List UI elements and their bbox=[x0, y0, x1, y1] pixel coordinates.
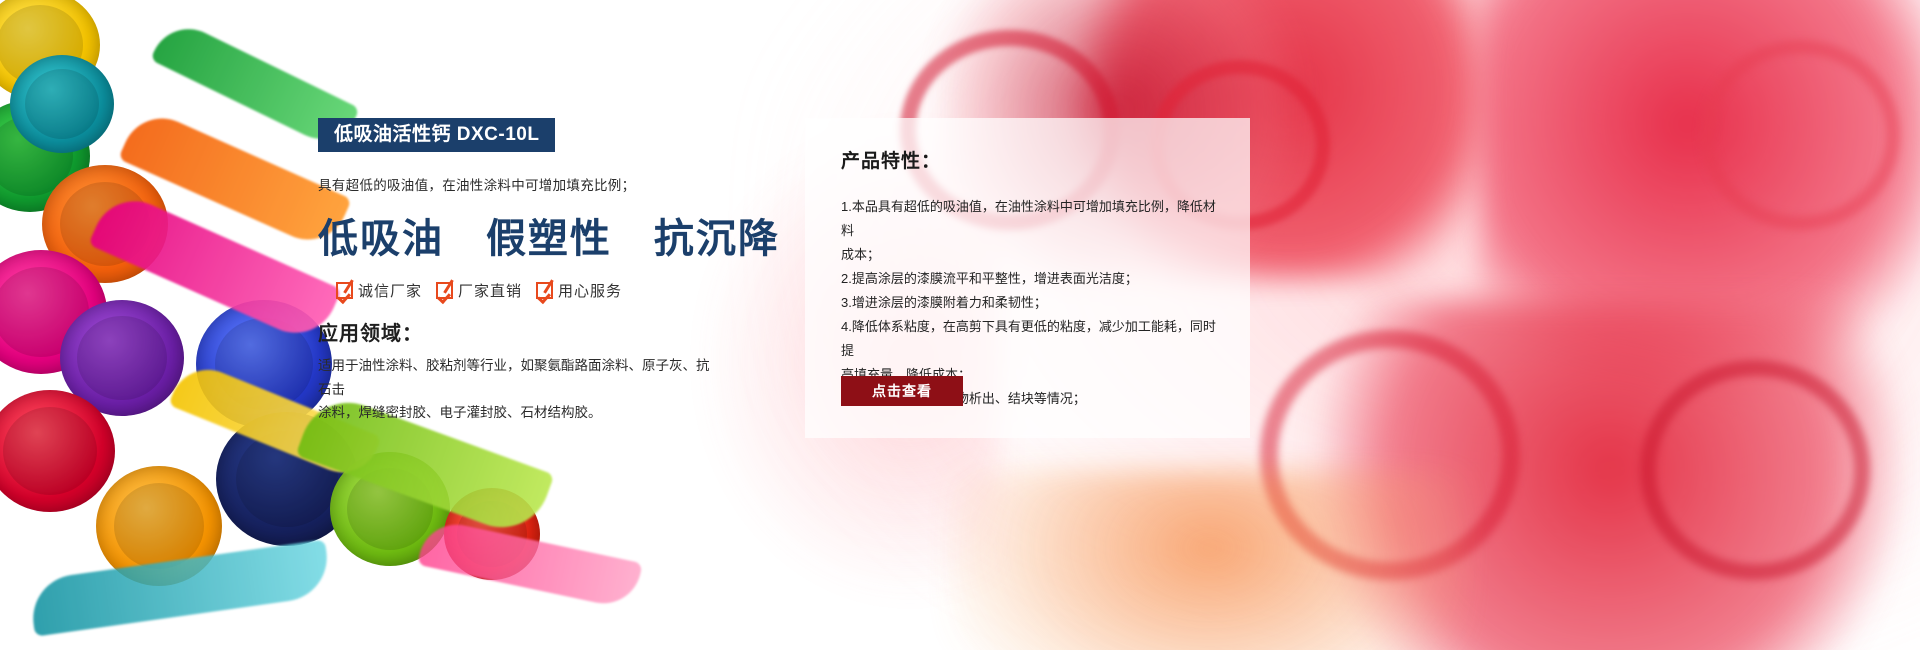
paint-smear-orange bbox=[118, 106, 352, 253]
product-keywords: 低吸油 假塑性 抗沉降 bbox=[318, 206, 718, 264]
paint-can-orange bbox=[42, 165, 168, 283]
feature-line: 2.提高涂层的漆膜流平和平整性，增进表面光洁度； bbox=[841, 267, 1226, 291]
application-field-line-2: 涂料，焊缝密封胶、电子灌封胶、石材结构胶。 bbox=[318, 401, 718, 425]
feature-line: 1.本品具有超低的吸油值，在油性涂料中可增加填充比例，降低材料 bbox=[841, 195, 1226, 243]
application-field-line-1: 适用于油性涂料、胶粘剂等行业，如聚氨酯路面涂料、原子灰、抗石击 bbox=[318, 354, 718, 401]
checkbox-checked-icon bbox=[536, 282, 553, 299]
left-content-column: 低吸油活性钙 DXC-10L 具有超低的吸油值，在油性涂料中可增加填充比例； 低… bbox=[318, 118, 718, 425]
wash-red-right bbox=[1480, 0, 1920, 410]
paint-can-purple bbox=[60, 300, 184, 416]
checkbox-checked-icon bbox=[436, 282, 453, 299]
paint-ring-3 bbox=[1260, 330, 1520, 580]
feature-line: 3.增进涂层的漆膜附着力和柔韧性； bbox=[841, 291, 1226, 315]
checkbox-checked-icon bbox=[336, 282, 353, 299]
paint-ring-5 bbox=[1700, 40, 1900, 230]
view-details-button[interactable]: 点击查看 bbox=[841, 376, 963, 406]
paint-smear-pink bbox=[417, 518, 642, 611]
trust-badge-label: 厂家直销 bbox=[458, 280, 522, 301]
trust-badge-item: 厂家直销 bbox=[436, 280, 522, 301]
paint-can-blue bbox=[196, 300, 332, 428]
paint-can-crimson bbox=[0, 390, 115, 512]
trust-badge-item: 诚信厂家 bbox=[336, 280, 422, 301]
trust-badge-label: 用心服务 bbox=[558, 280, 622, 301]
product-features-inner: 产品特性： 1.本品具有超低的吸油值，在油性涂料中可增加填充比例，降低材料 成本… bbox=[841, 146, 1230, 411]
paint-can-yellow bbox=[0, 0, 100, 100]
keyword-1: 低吸油 bbox=[318, 215, 444, 262]
paint-can-amber bbox=[96, 466, 222, 586]
paint-can-navy bbox=[216, 412, 358, 546]
application-field-heading: 应用领域： bbox=[318, 317, 718, 346]
keyword-3: 抗沉降 bbox=[654, 215, 780, 262]
product-banner: 低吸油活性钙 DXC-10L 具有超低的吸油值，在油性涂料中可增加填充比例； 低… bbox=[0, 0, 1920, 650]
feature-line: 4.降低体系粘度，在高剪下具有更低的粘度，减少加工能耗，同时提 bbox=[841, 315, 1226, 363]
paint-can-teal bbox=[10, 55, 114, 153]
trust-badge-label: 诚信厂家 bbox=[358, 280, 422, 301]
paint-ring-4 bbox=[1640, 360, 1870, 580]
product-subtitle: 具有超低的吸油值，在油性涂料中可增加填充比例； bbox=[318, 174, 718, 194]
paint-can-green bbox=[0, 100, 90, 212]
trust-badge-item: 用心服务 bbox=[536, 280, 622, 301]
paint-smear-magenta bbox=[88, 188, 342, 346]
product-features-heading: 产品特性： bbox=[841, 146, 1230, 173]
paint-can-magenta bbox=[0, 250, 107, 374]
product-title-chip: 低吸油活性钙 DXC-10L bbox=[318, 118, 555, 152]
wash-red-bottom-right bbox=[1300, 300, 1920, 650]
paint-can-red-small bbox=[444, 488, 540, 580]
keyword-2: 假塑性 bbox=[486, 215, 612, 262]
paint-smear-cyan bbox=[28, 539, 333, 636]
paint-can-lime bbox=[330, 452, 450, 566]
trust-badge-list: 诚信厂家 厂家直销 用心服务 bbox=[336, 280, 718, 301]
application-field-body: 适用于油性涂料、胶粘剂等行业，如聚氨酯路面涂料、原子灰、抗石击 涂料，焊缝密封胶… bbox=[318, 354, 718, 425]
wash-orange-bottom bbox=[950, 470, 1470, 650]
feature-line: 成本； bbox=[841, 243, 1226, 267]
